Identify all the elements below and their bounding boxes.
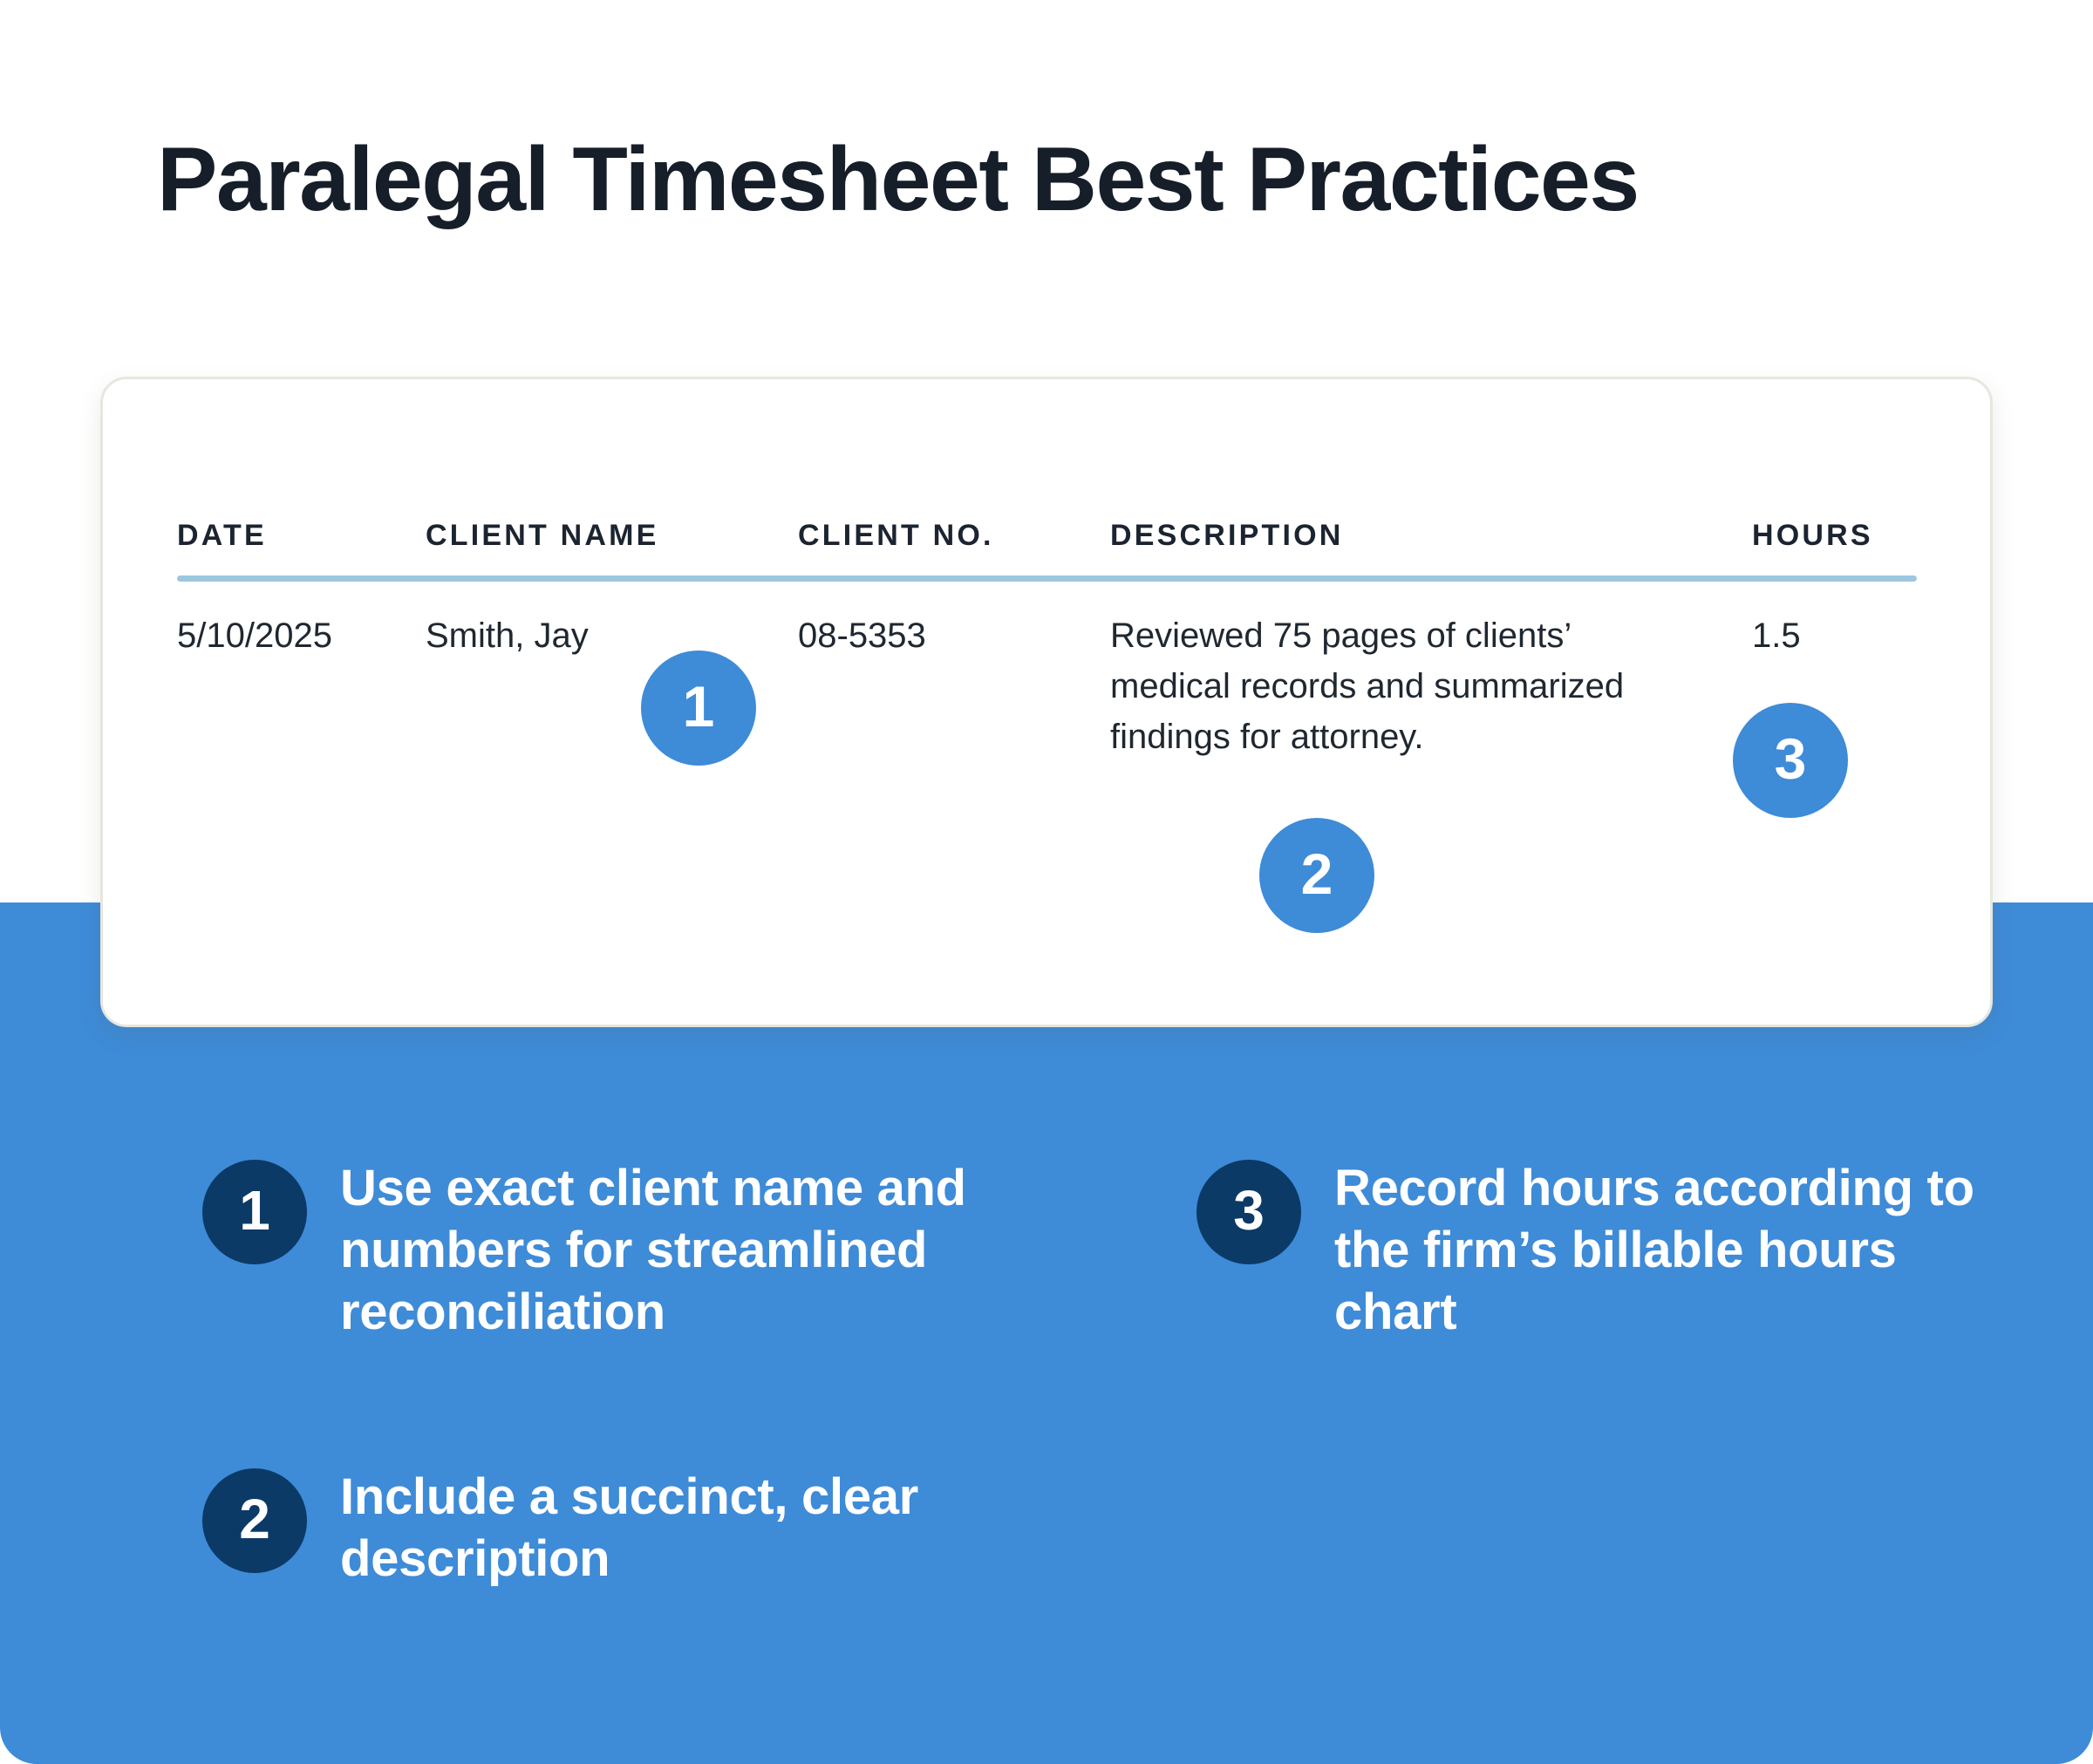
page-title: Paralegal Timesheet Best Practices bbox=[157, 129, 1988, 230]
legend-item-3: 3 Record hours according to the firm’s b… bbox=[1196, 1158, 2025, 1343]
column-header-client-name: CLIENT NAME bbox=[426, 519, 659, 553]
column-header-hours: HOURS bbox=[1752, 519, 1873, 553]
timesheet-table: DATE CLIENT NAME CLIENT NO. DESCRIPTION … bbox=[177, 519, 1917, 571]
legend-text-3: Record hours according to the firm’s bil… bbox=[1334, 1158, 2025, 1343]
table-header-divider bbox=[177, 576, 1917, 582]
timesheet-card: DATE CLIENT NAME CLIENT NO. DESCRIPTION … bbox=[100, 377, 1993, 1027]
cell-client-no: 08-5353 bbox=[798, 610, 1086, 661]
legend-badge-1: 1 bbox=[202, 1160, 307, 1264]
callout-badge-3: 3 bbox=[1733, 703, 1848, 818]
cell-description: Reviewed 75 pages of clients’ medical re… bbox=[1110, 610, 1660, 762]
legend-text-2: Include a succinct, clear description bbox=[340, 1467, 1031, 1590]
legend-badge-2: 2 bbox=[202, 1468, 307, 1573]
column-header-date: DATE bbox=[177, 519, 267, 553]
legend-item-2: 2 Include a succinct, clear description bbox=[202, 1467, 1031, 1590]
callout-badge-1: 1 bbox=[641, 650, 756, 766]
legend: 1 Use exact client name and numbers for … bbox=[0, 1107, 2093, 1718]
cell-client-name: Smith, Jay bbox=[426, 610, 774, 661]
table-header-row: DATE CLIENT NAME CLIENT NO. DESCRIPTION … bbox=[177, 519, 1917, 571]
legend-item-1: 1 Use exact client name and numbers for … bbox=[202, 1158, 1031, 1343]
column-header-description: DESCRIPTION bbox=[1110, 519, 1344, 553]
legend-text-1: Use exact client name and numbers for st… bbox=[340, 1158, 1031, 1343]
legend-badge-3: 3 bbox=[1196, 1160, 1301, 1264]
column-header-client-no: CLIENT NO. bbox=[798, 519, 994, 553]
cell-hours: 1.5 bbox=[1752, 610, 1909, 661]
cell-date: 5/10/2025 bbox=[177, 610, 412, 661]
infographic-canvas: Paralegal Timesheet Best Practices DATE … bbox=[0, 0, 2093, 1764]
callout-badge-2: 2 bbox=[1259, 818, 1374, 933]
